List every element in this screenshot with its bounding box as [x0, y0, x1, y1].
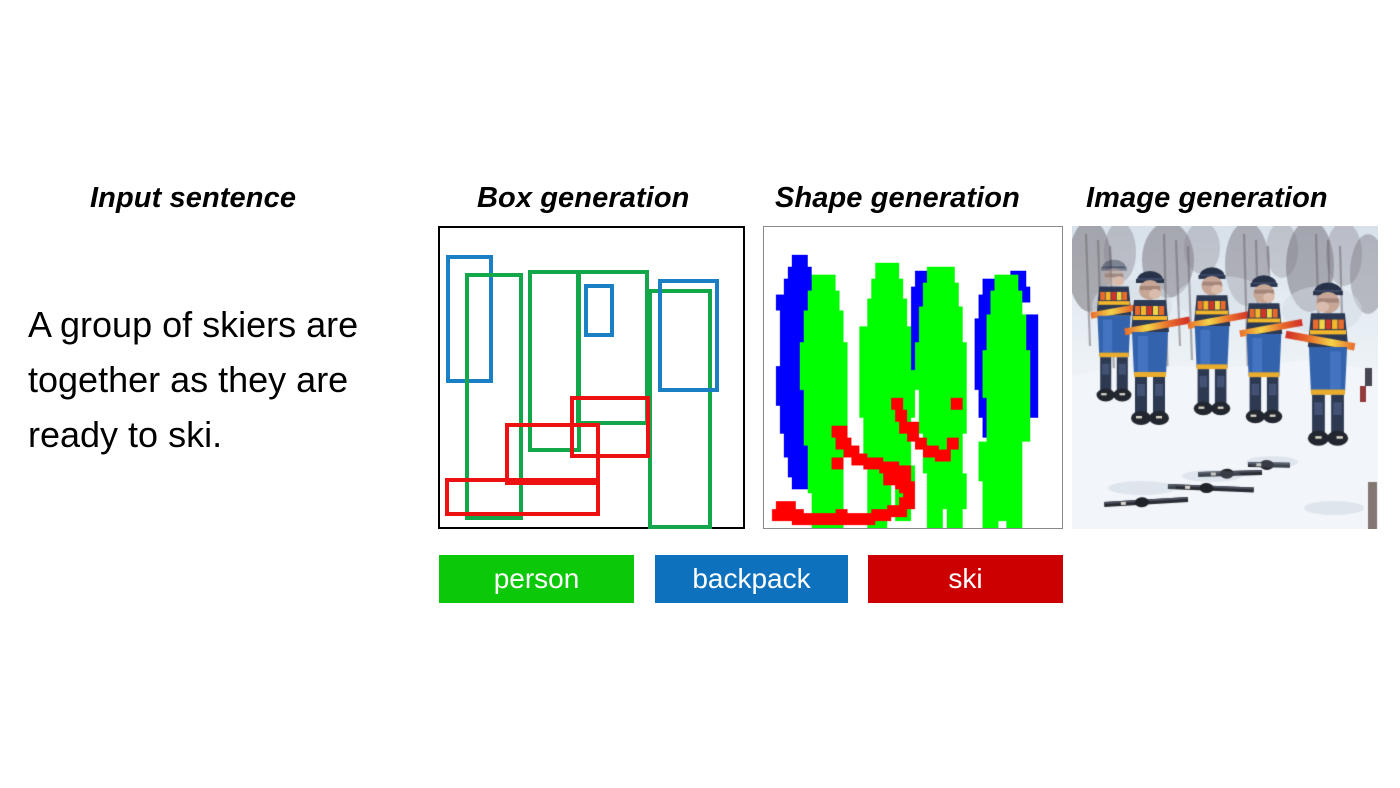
bounding-box-backpack [658, 279, 719, 392]
legend-label-ski: ski [948, 563, 982, 595]
legend-label-backpack: backpack [692, 563, 810, 595]
column-header-input-sentence: Input sentence [90, 182, 296, 215]
column-header-box-generation: Box generation [477, 182, 690, 215]
shape-generation-panel [763, 226, 1063, 529]
shape-generation-canvas [764, 227, 1062, 528]
bounding-box-ski [445, 478, 600, 516]
legend-chip-ski: ski [868, 555, 1063, 603]
image-generation-canvas [1072, 226, 1378, 529]
image-generation-panel [1072, 226, 1378, 529]
column-header-image-generation: Image generation [1086, 182, 1328, 215]
input-sentence-text: A group of skiers are together as they a… [28, 297, 428, 462]
bounding-box-ski [505, 423, 600, 485]
column-header-shape-generation: Shape generation [775, 182, 1020, 215]
legend-chip-backpack: backpack [655, 555, 848, 603]
legend-chip-person: person [439, 555, 634, 603]
legend-label-person: person [494, 563, 580, 595]
box-generation-panel [438, 226, 745, 529]
bounding-box-backpack [584, 284, 614, 337]
